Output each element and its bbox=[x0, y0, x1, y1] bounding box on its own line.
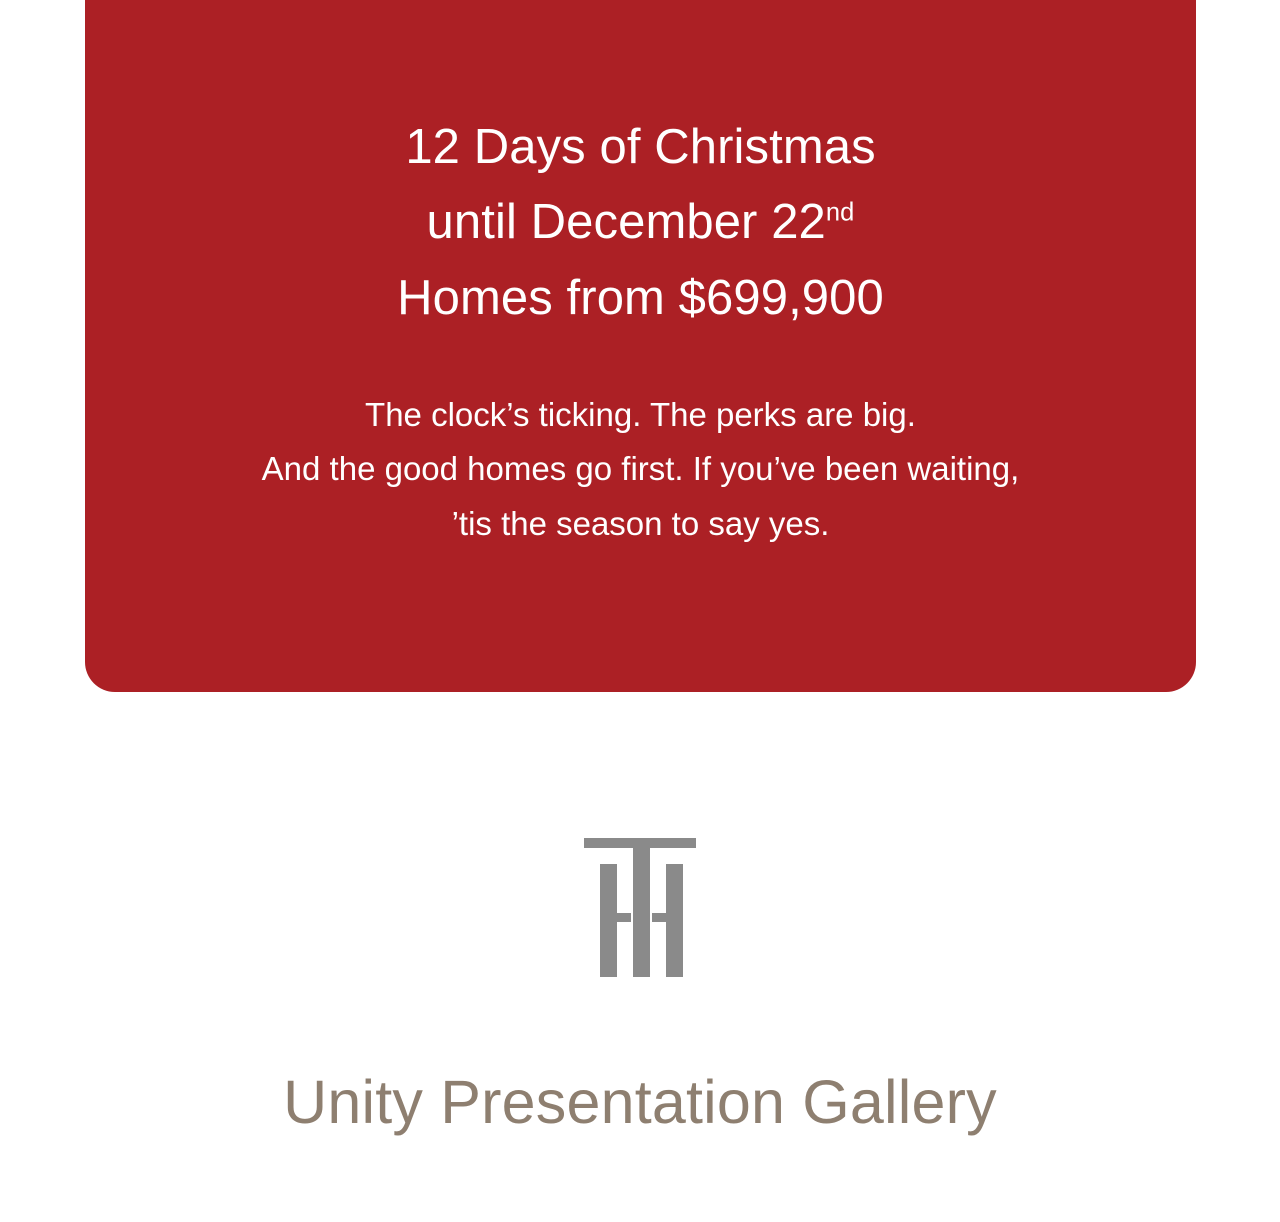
promo-subcopy-line-1: The clock’s ticking. The perks are big. bbox=[262, 388, 1020, 442]
promo-panel: 12 Days of Christmas until December 22nd… bbox=[85, 0, 1196, 692]
promo-subcopy-line-2: And the good homes go first. If you’ve b… bbox=[262, 442, 1020, 496]
brand-name: Unity Presentation Gallery bbox=[283, 980, 997, 1133]
promo-headline-date-text: until December 22 bbox=[427, 195, 826, 249]
promo-headline: 12 Days of Christmas until December 22nd… bbox=[397, 110, 884, 336]
promo-headline-line-2: until December 22nd bbox=[397, 185, 884, 260]
unity-monogram-icon bbox=[575, 820, 705, 980]
promo-headline-line-1: 12 Days of Christmas bbox=[397, 110, 884, 185]
brand-block: Unity Presentation Gallery bbox=[0, 820, 1280, 1133]
promo-subcopy: The clock’s ticking. The perks are big. … bbox=[262, 336, 1020, 550]
promo-subcopy-line-3: ’tis the season to say yes. bbox=[262, 497, 1020, 551]
promo-headline-ordinal-suffix: nd bbox=[826, 199, 855, 227]
promo-headline-line-3-price: Homes from $699,900 bbox=[397, 261, 884, 336]
